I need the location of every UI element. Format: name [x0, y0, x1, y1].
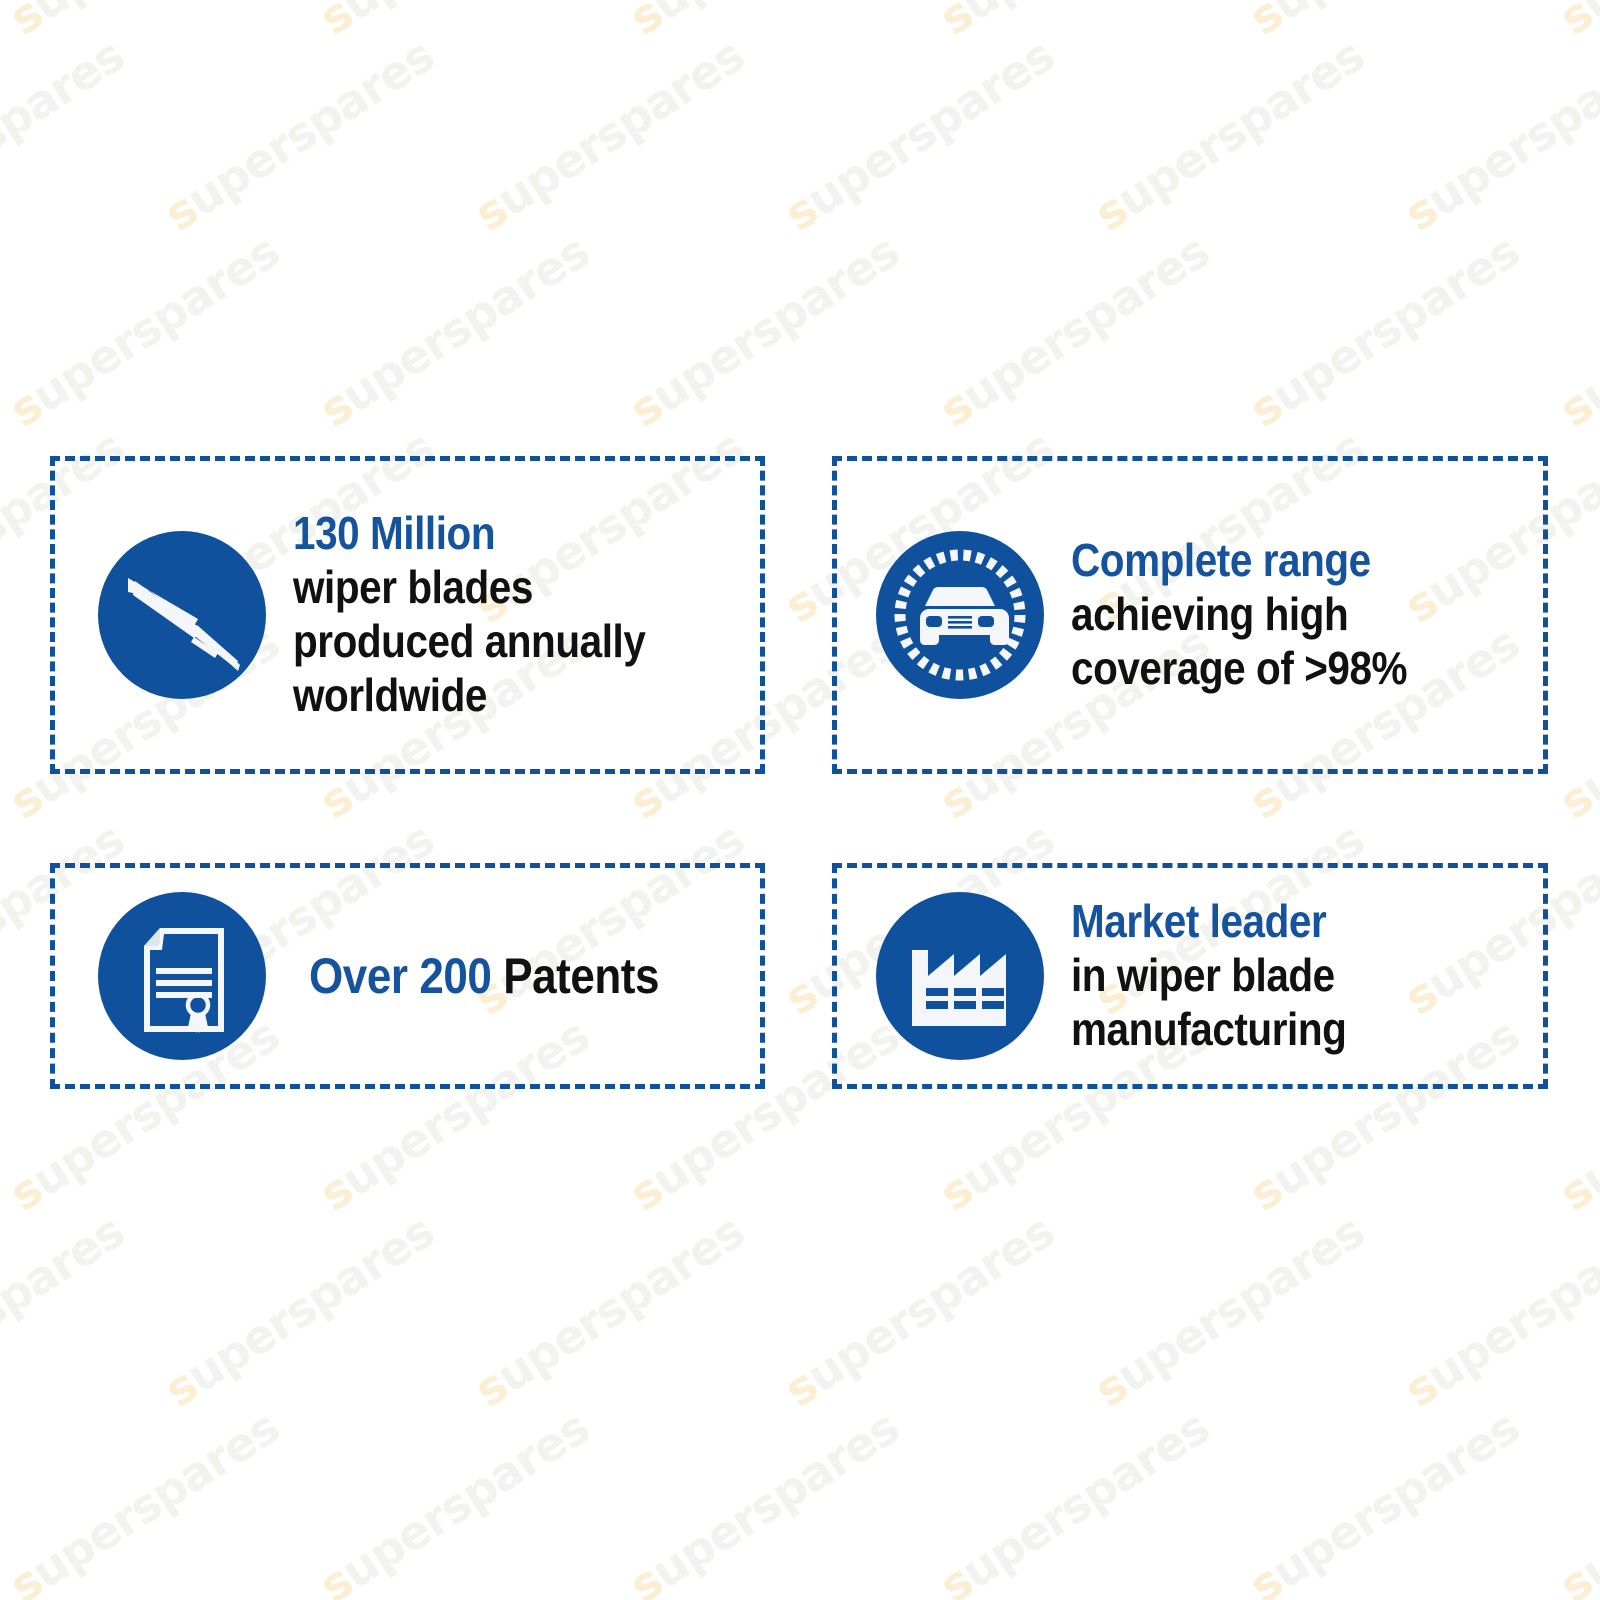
stat-headline: Market leader — [1071, 895, 1476, 949]
stat-body-line-2: produced annually — [293, 615, 693, 669]
watermark-text: superspares — [775, 28, 1063, 241]
watermark-text: superspares — [1550, 0, 1600, 45]
stat-card-text: 130 Million wiper blades produced annual… — [287, 507, 760, 722]
stat-card-complete-range: Complete range achieving high coverage o… — [832, 456, 1548, 774]
watermark-text: superspares — [620, 0, 908, 45]
stat-card-wiper-blades-produced: 130 Million wiper blades produced annual… — [50, 456, 765, 774]
watermark-text: superspares — [775, 1204, 1063, 1417]
icon-container — [855, 531, 1065, 699]
watermark-text: superspares — [1550, 616, 1600, 829]
stat-body-line-2: coverage of >98% — [1071, 642, 1476, 696]
icon-container — [77, 892, 287, 1060]
watermark-text: superspares — [620, 224, 908, 437]
watermark-text: superspares — [0, 1400, 288, 1600]
watermark-text: superspares — [0, 28, 133, 241]
watermark-text: superspares — [0, 224, 288, 437]
watermark-text: superspares — [465, 1204, 753, 1417]
watermark-text: superspares — [155, 28, 443, 241]
watermark-text: superspares — [1085, 28, 1373, 241]
watermark-text: superspares — [465, 28, 753, 241]
stat-highlight: Over 200 — [309, 948, 491, 1004]
watermark-text: superspares — [620, 1400, 908, 1600]
stat-card-market-leader: Market leader in wiper blade manufacturi… — [832, 863, 1548, 1089]
stat-card-text: Over 200 Patents — [287, 947, 760, 1006]
watermark-layer: supersparessupersparessupersparessupersp… — [0, 0, 1600, 1600]
watermark-text: superspares — [1395, 28, 1600, 241]
wiper-blade-icon — [98, 531, 266, 699]
stat-body-line-2: manufacturing — [1071, 1003, 1476, 1057]
watermark-text: superspares — [1395, 1596, 1600, 1600]
stat-body-line-3: worldwide — [293, 669, 693, 723]
watermark-text: superspares — [1240, 224, 1528, 437]
watermark-text: superspares — [1085, 1204, 1373, 1417]
watermark-text: superspares — [1240, 0, 1528, 45]
watermark-text: superspares — [930, 224, 1218, 437]
watermark-text: superspares — [1240, 1400, 1528, 1600]
watermark-text: superspares — [0, 0, 288, 45]
watermark-text: superspares — [930, 1400, 1218, 1600]
car-coverage-icon — [876, 531, 1044, 699]
watermark-text: superspares — [775, 1596, 1063, 1600]
stat-card-patents: Over 200 Patents — [50, 863, 765, 1089]
watermark-text: superspares — [310, 1400, 598, 1600]
watermark-text: superspares — [1395, 1204, 1600, 1417]
watermark-text: superspares — [1550, 1008, 1600, 1221]
icon-container — [855, 892, 1065, 1060]
watermark-text: superspares — [310, 0, 598, 45]
icon-container — [77, 531, 287, 699]
stat-body-line-1: in wiper blade — [1071, 949, 1476, 1003]
watermark-text: superspares — [465, 1596, 753, 1600]
stat-body-line-1: achieving high — [1071, 588, 1476, 642]
watermark-text: superspares — [310, 224, 598, 437]
factory-icon — [876, 892, 1044, 1060]
stat-headline: Over 200 Patents — [309, 947, 695, 1006]
watermark-text: superspares — [0, 1204, 133, 1417]
patent-certificate-icon — [98, 892, 266, 1060]
watermark-text: superspares — [930, 0, 1218, 45]
watermark-text: superspares — [1085, 1596, 1373, 1600]
stat-plain: Patents — [491, 948, 659, 1004]
watermark-text: superspares — [1550, 1400, 1600, 1600]
stat-headline: 130 Million — [293, 507, 693, 561]
watermark-text: superspares — [155, 1596, 443, 1600]
stat-headline: Complete range — [1071, 534, 1476, 588]
watermark-text: superspares — [155, 1204, 443, 1417]
stat-card-text: Complete range achieving high coverage o… — [1065, 534, 1543, 695]
stat-body-line-1: wiper blades — [293, 561, 693, 615]
watermark-text: superspares — [1550, 224, 1600, 437]
stat-card-text: Market leader in wiper blade manufacturi… — [1065, 895, 1543, 1056]
watermark-text: superspares — [0, 1596, 133, 1600]
